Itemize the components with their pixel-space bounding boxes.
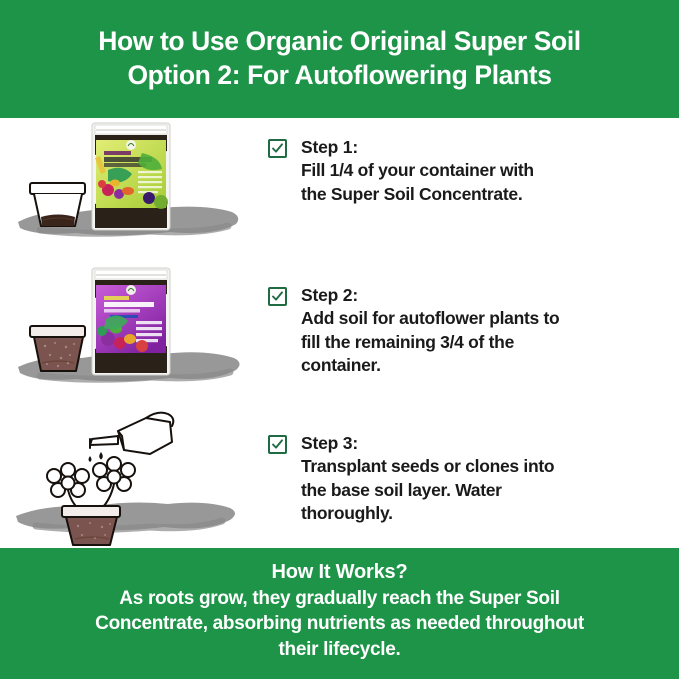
step-2-title: Step 2: — [301, 284, 559, 307]
checkbox-checked-icon[interactable] — [268, 287, 287, 306]
header-title-line-1: How to Use Organic Original Super Soil — [98, 25, 581, 59]
step-3-desc-line-2: the base soil layer. Water — [301, 479, 554, 502]
super-soil-concentrate-bag — [92, 123, 170, 230]
infographic-root: How to Use Organic Original Super Soil O… — [0, 0, 679, 679]
checkbox-checked-icon[interactable] — [268, 139, 287, 158]
step-row: Step 1: Fill 1/4 of your container with … — [0, 118, 679, 263]
checkbox-checked-icon[interactable] — [268, 435, 287, 454]
step-2-desc-line-2: fill the remaining 3/4 of the — [301, 331, 559, 354]
step-2-text-block: Step 2: Add soil for autoflower plants t… — [268, 263, 679, 378]
footer-body-line-1: As roots grow, they gradually reach the … — [95, 586, 584, 611]
footer-body-line-3: their lifecycle. — [95, 637, 584, 662]
step-2-desc-line-3: container. — [301, 354, 559, 377]
footer-body: As roots grow, they gradually reach the … — [95, 586, 584, 662]
step-3-text-block: Step 3: Transplant seeds or clones into … — [268, 408, 679, 526]
step-3-desc-line-1: Transplant seeds or clones into — [301, 455, 554, 478]
header-title-line-2: Option 2: For Autoflowering Plants — [127, 59, 551, 93]
steps-container: Step 1: Fill 1/4 of your container with … — [0, 118, 679, 548]
step-3-title: Step 3: — [301, 432, 554, 455]
footer-body-line-2: Concentrate, absorbing nutrients as need… — [95, 611, 584, 636]
empty-pot-with-concentrate-bag-art — [0, 118, 268, 263]
autoflower-potting-soil-mix-bag — [92, 268, 170, 375]
filled-pot-with-potting-mix-bag-art — [0, 263, 268, 408]
header-banner: How to Use Organic Original Super Soil O… — [0, 0, 679, 118]
step-1-copy: Step 1: Fill 1/4 of your container with … — [301, 136, 534, 206]
planted-pot — [62, 506, 120, 545]
step-row: Step 3: Transplant seeds or clones into … — [0, 408, 679, 548]
footer-title: How It Works? — [272, 561, 408, 584]
step-3-desc-line-3: thoroughly. — [301, 502, 554, 525]
watering-can-over-flowering-plant-art — [0, 408, 268, 548]
step-1-text-block: Step 1: Fill 1/4 of your container with … — [268, 118, 679, 206]
step-3-illustration — [0, 408, 268, 548]
step-2-copy: Step 2: Add soil for autoflower plants t… — [301, 284, 559, 378]
ground-shadow — [16, 503, 235, 531]
watering-can-icon — [90, 413, 173, 454]
step-1-desc-line-2: the Super Soil Concentrate. — [301, 183, 534, 206]
footer-banner: How It Works? As roots grow, they gradua… — [0, 548, 679, 679]
step-2-illustration — [0, 263, 268, 408]
step-2-desc-line-1: Add soil for autoflower plants to — [301, 307, 559, 330]
step-3-copy: Step 3: Transplant seeds or clones into … — [301, 432, 554, 526]
step-1-desc-line-1: Fill 1/4 of your container with — [301, 159, 534, 182]
step-1-title: Step 1: — [301, 136, 534, 159]
step-row: Step 2: Add soil for autoflower plants t… — [0, 263, 679, 408]
step-1-illustration — [0, 118, 268, 263]
